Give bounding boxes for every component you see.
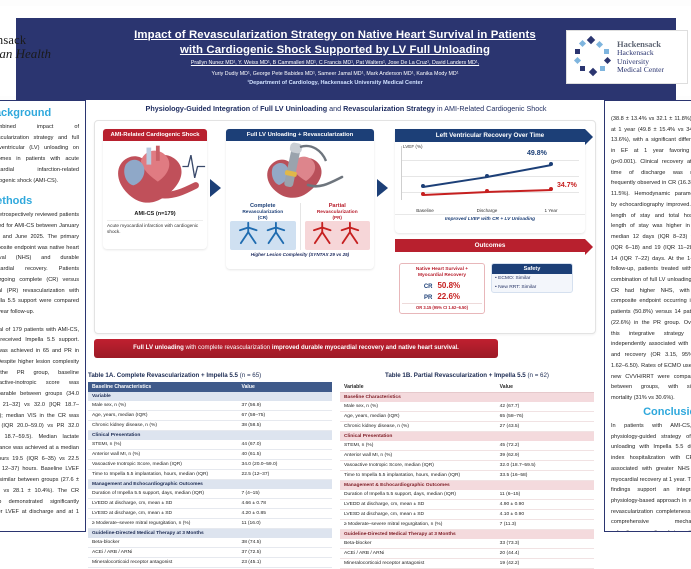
section-heading-conclusion: Conclusion [611,406,691,418]
table-1a-head: Baseline Characteristics Value [88,382,332,392]
pr-vessel-svg [305,221,369,245]
table-cell-value: 33 (73.3) [496,539,594,549]
table-1a-section-row: Management and Echocardiographic Outcome… [88,480,332,490]
table-1b-col-1: Value [496,382,594,393]
section-heading-background: Background [0,107,79,119]
author-line1-text: Prallyn Nunez MD¹, Y. Weiss MD¹, B Camma… [191,60,479,66]
table-1a-section-row: Guideline-Directed Medical Therapy at 3 … [88,529,332,539]
table-section-label: Guideline-Directed Medical Therapy at 3 … [340,530,594,540]
nhs-cr-value: 50.8% [437,281,460,290]
chart-xtick-baseline: Baseline [403,208,447,213]
table-cell-value: 38 (58.5) [237,421,332,431]
table-row: Time to Impella 5.5 implantation, hours,… [340,471,594,481]
results-continued-paragraph: (38.8 ± 13.4% vs 32.1 ± 11.8%) and at 1 … [611,114,691,404]
table-section-label: Baseline Characteristics [340,393,594,403]
chart-line-cr-seg1 [423,176,487,188]
table-cell-label: STEMI, n (%) [340,441,496,451]
heart-icon [103,141,207,209]
table-cell-value: 23 (45.1) [237,558,332,568]
panel1-caption-bold: AMI-CS (n=179) [107,211,203,218]
logo-left-line2-text: Meridian Health [0,46,51,61]
panel-unloading-revasc: Full LV Unloading + Revascularization [226,129,374,269]
table-cell-label: ≥ Moderate–severe mitral regurgitation, … [340,520,496,530]
chart-point-cr-discharge [485,174,489,178]
banner-bold-1: Full LV unloading [133,344,184,351]
fig-title-part5: Revascularization Strategy [343,104,435,113]
panel2-footer: Higher Lesion Complexity (SYNTAX 29 vs 2… [226,250,374,257]
table-row: ACEi / ARB / ARNi20 (44.4) [340,549,594,559]
cr-vessel-icon [230,221,296,250]
table-cell-label: Duration of Impella 5.5 support, days, m… [88,489,237,499]
table-cell-label: Vasoactive Inotropic Score, median (IQR) [88,460,237,470]
nhs-odds-ratio: OR 3.15 (95% CI 1.62–6.50) [402,303,482,310]
nhs-pr-value: 22.6% [437,292,460,301]
nhs-title-line2: Myocardial Recovery [402,273,482,279]
table-row: Mineralocorticoid receptor antagonist19 … [340,559,594,569]
chart-plot-area: LVEF (%) 49 [395,142,585,214]
table-1b: Variable Value Baseline CharacteristicsM… [340,382,594,569]
table-row: ≥ Moderate–severe mitral regurgitation, … [340,520,594,530]
table-1a-col-0: Baseline Characteristics [88,382,237,392]
chart-point-pr-discharge [485,189,489,193]
chevron-right-icon-1 [210,179,221,197]
table-cell-label: ≥ Moderate–severe mitral regurgitation, … [88,519,237,529]
impella-illustration-svg [226,141,374,203]
table-cell-label: Anterior wall MI, n (%) [88,450,237,460]
table-1b-section-row: Baseline Characteristics [340,393,594,403]
table-cell-label: STEMI, n (%) [88,440,237,450]
table-1a-section-row: Variable [88,392,332,401]
table-cell-value: 65 (58–76) [496,412,594,422]
table-1a-col-1: Value [237,382,332,392]
table-row: LVESD at discharge, cm, mean ± SD4.20 ± … [88,509,332,519]
chart-footer-note: Improved LVEF with CR + LV Unloading [395,214,585,222]
table-1a-caption: Table 1A. Complete Revascularization + I… [88,372,332,379]
table-cell-label: Chronic kidney disease, n (%) [340,422,496,432]
author-list-line1: Prallyn Nunez MD¹, Y. Weiss MD¹, B Camma… [112,60,558,68]
table-1a-header-row: Baseline Characteristics Value [88,382,332,392]
nhs-cr-key: CR [424,284,433,290]
table-row: STEMI, n (%)44 (67.0) [88,440,332,450]
center-column: Physiology-Guided Integration of Full LV… [88,100,604,532]
table-1b-section-row: Management & Echocardiographic Outcomes [340,481,594,491]
table-cell-value: 40 (61.5) [237,450,332,460]
table-cell-label: LVEDD at discharge, cm, mean ± SD [340,500,496,510]
table-cell-value: 34.0 (20.0–59.0) [237,460,332,470]
table-1b-caption-bold: Table 1B. Partial Revascularization + Im… [385,372,526,379]
nhs-pr-key: PR [424,295,432,301]
fig-title-part1: Physiology-Guided Integration [146,104,251,113]
chart-label-pr-value: 34.7% [557,182,577,189]
chart-xtick-1year: 1 Year [529,208,573,213]
table-cell-label: Mineralocorticoid receptor antagonist [88,558,237,568]
logo-left-line2: Meridian Health [0,47,96,61]
heart-impella-icon [226,141,374,203]
table-cell-value: 4.10 ± 0.90 [496,510,594,520]
table-1b-head: Variable Value [340,382,594,393]
table-row: ACEi / ARB / ARNi37 (72.5) [88,548,332,558]
pr-vessel-icon [305,221,371,250]
table-row: Male sex, n (%)37 (56.9) [88,401,332,411]
cr-label-line3: (CR) [230,215,296,220]
table-row: Anterior wall MI, n (%)40 (61.5) [88,450,332,460]
table-row: Vasoactive Inotropic Score, median (IQR)… [88,460,332,470]
table-1b-header-row: Variable Value [340,382,594,393]
table-cell-label: Beta-blocker [88,538,237,548]
table-1b-body: Baseline CharacteristicsMale sex, n (%)4… [340,393,594,569]
table-cell-label: Time to Impella 5.5 implantation, hours,… [88,470,237,480]
table-cell-value: 67 (58–75) [237,411,332,421]
pr-label-line1: Partial [305,203,371,210]
banner-light: with complete revascularization [184,344,272,351]
graphical-abstract-box: AMI-Related Cardiogenic Shock AMI-CS (n=… [94,120,596,334]
table-cell-value: 38 (74.5) [237,538,332,548]
table-1b-caption-n: (n = 62) [527,372,549,379]
safety-item-rrt: • New RRT: Similar [492,283,572,292]
table-1a-caption-n: (n = 65) [240,372,262,379]
table-section-label: Management and Echocardiographic Outcome… [88,480,332,490]
table-1b-caption: Table 1B. Partial Revascularization + Im… [340,372,594,379]
logo-right-text: Hackensack Hackensack University Medical… [617,39,687,76]
table-cell-label: Male sex, n (%) [88,401,237,411]
table-cell-value: 11 (6–15) [496,490,594,500]
table-cell-value: 22.5 (12–37) [237,470,332,480]
banner-bold-2: improved durable myocardial recovery and… [272,344,459,351]
safety-item-ecmo-label: ECMO: Similar [498,276,530,281]
table-cell-label: Age, years, median (IQR) [340,412,496,422]
table-1a-wrapper: Table 1A. Complete Revascularization + I… [88,372,332,568]
table-cell-label: ACEi / ARB / ARNi [88,548,237,558]
pr-label-line3: (PR) [305,215,371,220]
table-1b-wrapper: Table 1B. Partial Revascularization + Im… [340,372,594,569]
table-row: Anterior wall MI, n (%)39 (62.9) [340,451,594,461]
table-cell-value: 19 (42.2) [496,559,594,569]
cr-label-line1: Complete [230,203,296,210]
table-1a-caption-bold: Table 1A. Complete Revascularization + I… [88,372,238,379]
table-row: STEMI, n (%)45 (72.2) [340,441,594,451]
table-section-label: Management & Echocardiographic Outcomes [340,481,594,491]
table-cell-value: 7 (11.3) [496,520,594,530]
poster-root: Hackensack Meridian Health Impact of Rev… [0,0,691,532]
chart-y-axis-label: LVEF (%) [403,144,423,149]
fig-title-part3: Full LV Uninloading [260,104,327,113]
heart-illustration-svg [103,141,207,209]
table-row: Duration of Impella 5.5 support, days, m… [88,489,332,499]
table-section-label: Clinical Presentation [340,432,594,442]
table-1a: Baseline Characteristics Value VariableM… [88,382,332,568]
table-cell-label: Vasoactive Inotropic Score, median (IQR) [340,461,496,471]
chevron-right-icon-2 [377,179,388,197]
chart-y-axis [401,146,402,200]
panel-ami-cs: AMI-Related Cardiogenic Shock AMI-CS (n=… [103,129,207,249]
table-cell-value: 32.0 (18.7–59.5) [496,461,594,471]
conclusion-paragraph: In patients with AMI-CS, a physiology-gu… [611,421,691,532]
panel-outcomes: Outcomes Native Heart Survival + Myocard… [395,239,585,325]
fig-title-part2: of [250,104,260,113]
table-section-label: Variable [88,392,332,401]
methods-paragraph-1: We retrospectively reviewed patients tre… [0,210,79,317]
table-row: LVEDD at discharge, cm, mean ± SD4.66 ± … [88,499,332,509]
table-cell-value: 42 (67.7) [496,402,594,412]
cr-vessel-svg [231,221,295,245]
poster-title-line1: Impact of Revascularization Strategy on … [112,28,558,43]
nhs-cr-row: CR 50.8% [402,281,482,290]
table-1b-col-0: Variable [340,382,496,393]
table-cell-label: LVEDD at discharge, cm, mean ± SD [88,499,237,509]
table-row: Vasoactive Inotropic Score, median (IQR)… [340,461,594,471]
table-row: LVESD at discharge, cm, mean ± SD4.10 ± … [340,510,594,520]
hackensack-meridian-logo: Hackensack Meridian Health [0,34,96,61]
table-cell-value: 37 (56.9) [237,401,332,411]
table-row: Beta-blocker33 (73.3) [340,539,594,549]
table-row: LVEDD at discharge, cm, mean ± SD4.90 ± … [340,500,594,510]
safety-header: Safety [492,264,572,274]
table-1b-section-row: Guideline-Directed Medical Therapy at 3 … [340,530,594,540]
table-row: Duration of Impella 5.5 support, days, m… [340,490,594,500]
table-cell-value: 37 (72.5) [237,548,332,558]
right-text-column: (38.8 ± 13.4% vs 32.1 ± 11.8%) and at 1 … [604,100,691,532]
panel-lv-recovery-chart: Left Ventricular Recovery Over Time LVEF… [395,129,585,233]
table-cell-value: 4.20 ± 0.85 [237,509,332,519]
table-1a-section-row: Clinical Presentation [88,431,332,441]
table-cell-label: ACEi / ARB / ARNi [340,549,496,559]
cr-sub-panel: Complete Revascularization (CR) [230,203,296,250]
chart-xtick-discharge: Discharge [463,208,511,213]
table-1b-section-row: Clinical Presentation [340,432,594,442]
pr-sub-panel: Partial Revascularization (PR) [305,203,371,250]
table-cell-label: Beta-blocker [340,539,496,549]
table-row: Male sex, n (%)42 (67.7) [340,402,594,412]
chart-title: Left Ventricular Recovery Over Time [395,129,585,142]
nhs-recovery-box: Native Heart Survival + Myocardial Recov… [399,263,485,314]
table-cell-label: Chronic kidney disease, n (%) [88,421,237,431]
table-cell-label: LVESD at discharge, cm, mean ± SD [88,509,237,519]
panel1-header: AMI-Related Cardiogenic Shock [103,129,207,141]
chart-point-pr-baseline [421,192,425,196]
table-row: Beta-blocker38 (74.5) [88,538,332,548]
chart-point-cr-baseline [421,184,425,188]
section-heading-methods: Methods [0,195,79,207]
logo-right-line3: Medical Center [617,66,687,75]
logo-right-line2: Hackensack University [617,49,687,67]
table-cell-label: Male sex, n (%) [340,402,496,412]
panel1-caption-text: Acute myocardial infarction with cardiog… [107,223,203,236]
poster-header: Hackensack Meridian Health Impact of Rev… [0,6,691,96]
chart-label-cr-value: 49.8% [527,150,547,157]
chart-point-pr-1year [549,187,553,191]
logo-dots-icon [573,37,613,77]
results-paragraph-1: A total of 179 patients with AMI-CS, 127… [0,325,79,529]
left-text-column: Background ...combined impact of revascu… [0,100,86,532]
graphical-abstract-title: Physiology-Guided Integration of Full LV… [88,104,604,113]
table-row: Mineralocorticoid receptor antagonist23 … [88,558,332,568]
table-cell-label: LVESD at discharge, cm, mean ± SD [340,510,496,520]
table-cell-value: 20 (44.4) [496,549,594,559]
author-list-line2: Yuriy Dudiy MD¹, George Pete Babides MD¹… [112,71,558,79]
table-cell-label: Duration of Impella 5.5 support, days, m… [340,490,496,500]
table-row: Chronic kidney disease, n (%)27 (43.5) [340,422,594,432]
table-cell-label: Anterior wall MI, n (%) [340,451,496,461]
fig-title-part6: in AMI-Related Cardiogenic Shock [435,104,546,113]
table-cell-value: 11 (16.0) [237,519,332,529]
poster-title-line2: with Cardiogenic Shock Supported by LV F… [112,43,558,58]
table-cell-value: 45 (72.2) [496,441,594,451]
chart-point-cr-1year [549,162,553,166]
table-row: ≥ Moderate–severe mitral regurgitation, … [88,519,332,529]
safety-item-rrt-label: New RRT: Similar [498,285,536,290]
table-cell-value: 4.66 ± 0.78 [237,499,332,509]
table-1a-body: VariableMale sex, n (%)37 (56.9)Age, yea… [88,392,332,568]
hackensack-umc-logo: Hackensack Hackensack University Medical… [566,30,688,84]
table-cell-label: Mineralocorticoid receptor antagonist [340,559,496,569]
affiliation: ¹Department of Cardiology, Hackensack Un… [112,80,558,86]
table-cell-label: Age, years, median (IQR) [88,411,237,421]
table-row: Chronic kidney disease, n (%)38 (58.5) [88,421,332,431]
table-cell-value: 39 (62.9) [496,451,594,461]
nhs-pr-row: PR 22.6% [402,292,482,301]
table-cell-value: 7 (4–15) [237,489,332,499]
key-finding-banner: Full LV unloading with complete revascul… [94,339,498,358]
background-paragraph: ...combined impact of revascularization … [0,122,79,186]
table-section-label: Guideline-Directed Medical Therapy at 3 … [88,529,332,539]
table-section-label: Clinical Presentation [88,431,332,441]
table-cell-value: 4.90 ± 0.90 [496,500,594,510]
panel2-header: Full LV Unloading + Revascularization [226,129,374,141]
table-row: Time to Impella 5.5 implantation, hours,… [88,470,332,480]
table-cell-value: 33.5 (16–58) [496,471,594,481]
table-cell-value: 27 (43.5) [496,422,594,432]
title-block: Impact of Revascularization Strategy on … [112,28,558,86]
safety-item-ecmo: • ECMO: Similar [492,274,572,283]
fig-title-part4: and [327,104,343,113]
table-cell-value: 44 (67.0) [237,440,332,450]
table-row: Age, years, median (IQR)65 (58–76) [340,412,594,422]
outcomes-header: Outcomes [395,239,585,252]
safety-box: Safety • ECMO: Similar • New RRT: Simila… [491,263,573,293]
table-cell-label: Time to Impella 5.5 implantation, hours,… [340,471,496,481]
table-row: Age, years, median (IQR)67 (58–75) [88,411,332,421]
